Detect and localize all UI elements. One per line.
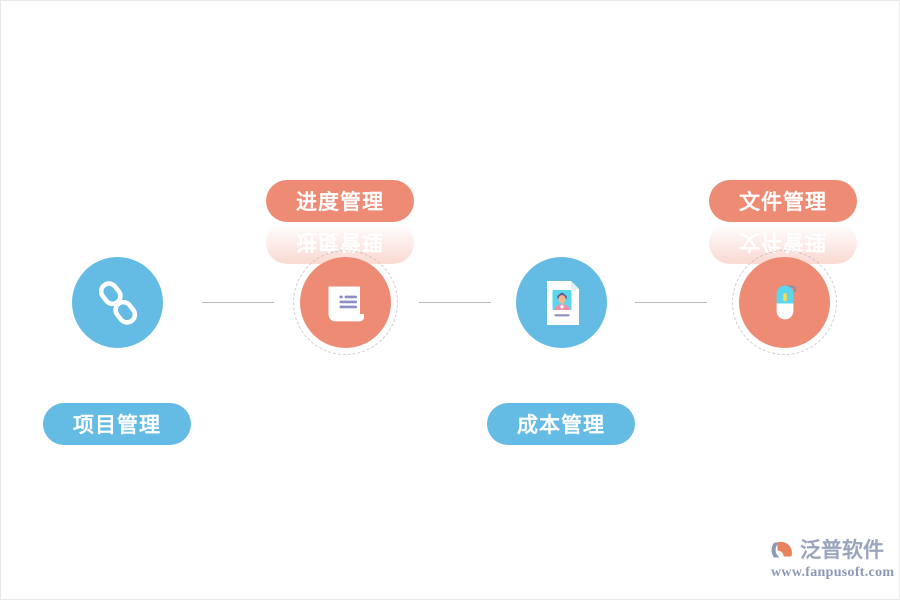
- computer-mouse-icon: [759, 277, 811, 329]
- watermark-company: 泛普软件: [800, 540, 884, 561]
- connector-cost-to-file: [635, 302, 707, 303]
- watermark: 泛普软件 www.fanpusoft.com: [771, 537, 893, 589]
- watermark-brand-row: 泛普软件: [771, 537, 893, 563]
- node-label-project[interactable]: 项目管理: [43, 403, 191, 445]
- node-label-schedule-reflection: 进度管理: [266, 222, 414, 264]
- id-card-document-icon: [536, 277, 588, 329]
- node-circle-project[interactable]: [72, 257, 163, 348]
- diagram-canvas: 项目管理 进度管理 进度管理: [0, 0, 900, 600]
- node-label-file[interactable]: 文件管理: [709, 180, 857, 222]
- node-circle-schedule[interactable]: [300, 257, 391, 348]
- node-circle-cost[interactable]: [516, 257, 607, 348]
- node-label-schedule[interactable]: 进度管理: [266, 180, 414, 222]
- node-label-cost[interactable]: 成本管理: [487, 403, 635, 445]
- fanpu-logo-icon: [771, 537, 797, 563]
- scroll-document-icon: [320, 277, 372, 329]
- node-label-file-reflection: 文件管理: [709, 222, 857, 264]
- connector-project-to-schedule: [202, 302, 274, 303]
- node-circle-file[interactable]: [739, 257, 830, 348]
- watermark-url: www.fanpusoft.com: [771, 565, 893, 581]
- connector-schedule-to-cost: [419, 302, 491, 303]
- chain-link-icon: [92, 277, 144, 329]
